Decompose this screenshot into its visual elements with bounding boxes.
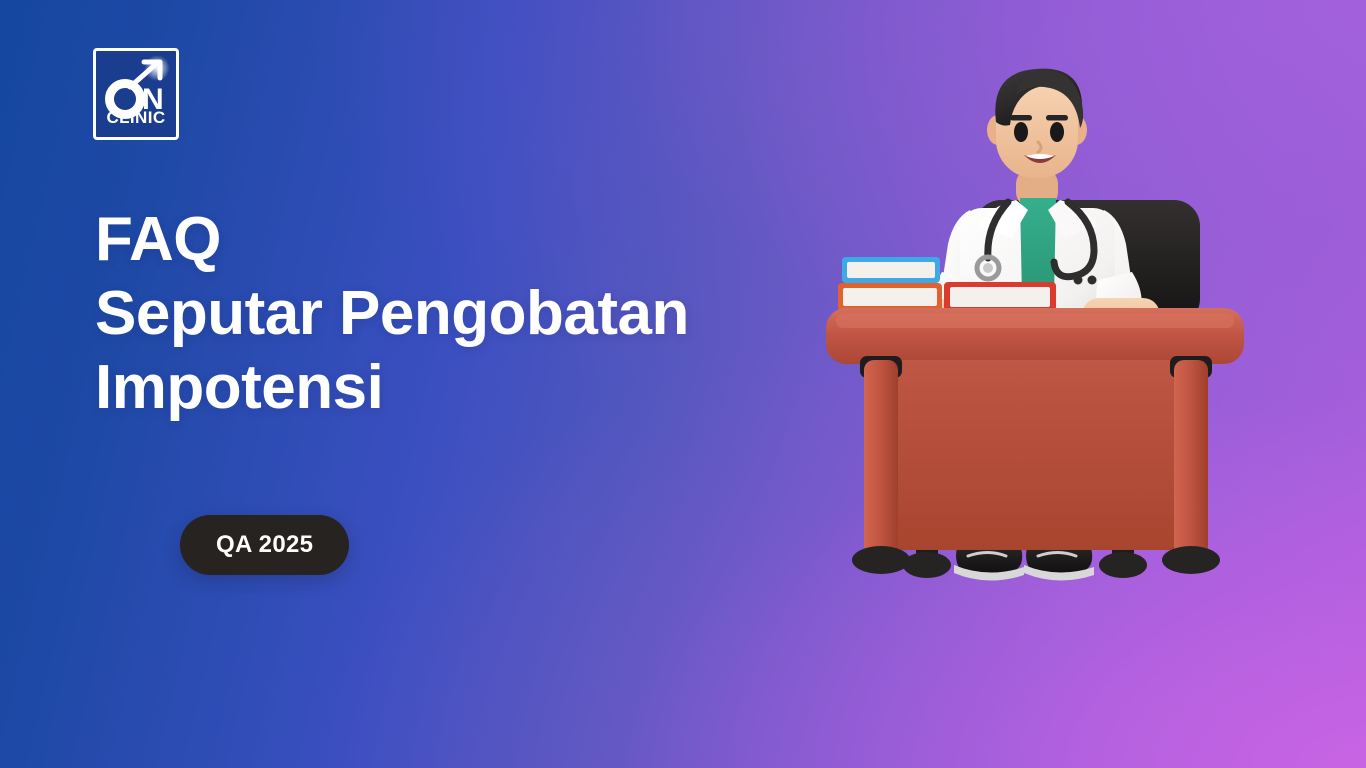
faq-banner: N CLINIC FAQ Seputar Pengobatan Impotens… [0,0,1366,768]
logo-inner: N CLINIC [96,51,176,137]
book-red [944,282,1056,312]
page-title: FAQ Seputar Pengobatan Impotensi [95,203,895,424]
status-badge: QA 2025 [180,515,349,575]
desk [826,308,1244,574]
doctor-at-desk-illustration [820,60,1260,620]
on-clinic-logo[interactable]: N CLINIC [93,48,179,140]
page-title-line-2: Seputar Pengobatan [95,277,895,351]
logo-word-clinic: CLINIC [96,108,176,128]
book-orange [838,283,942,311]
page-title-line-1: FAQ [95,203,895,277]
book-blue [842,257,940,283]
page-title-line-3: Impotensi [95,351,895,425]
